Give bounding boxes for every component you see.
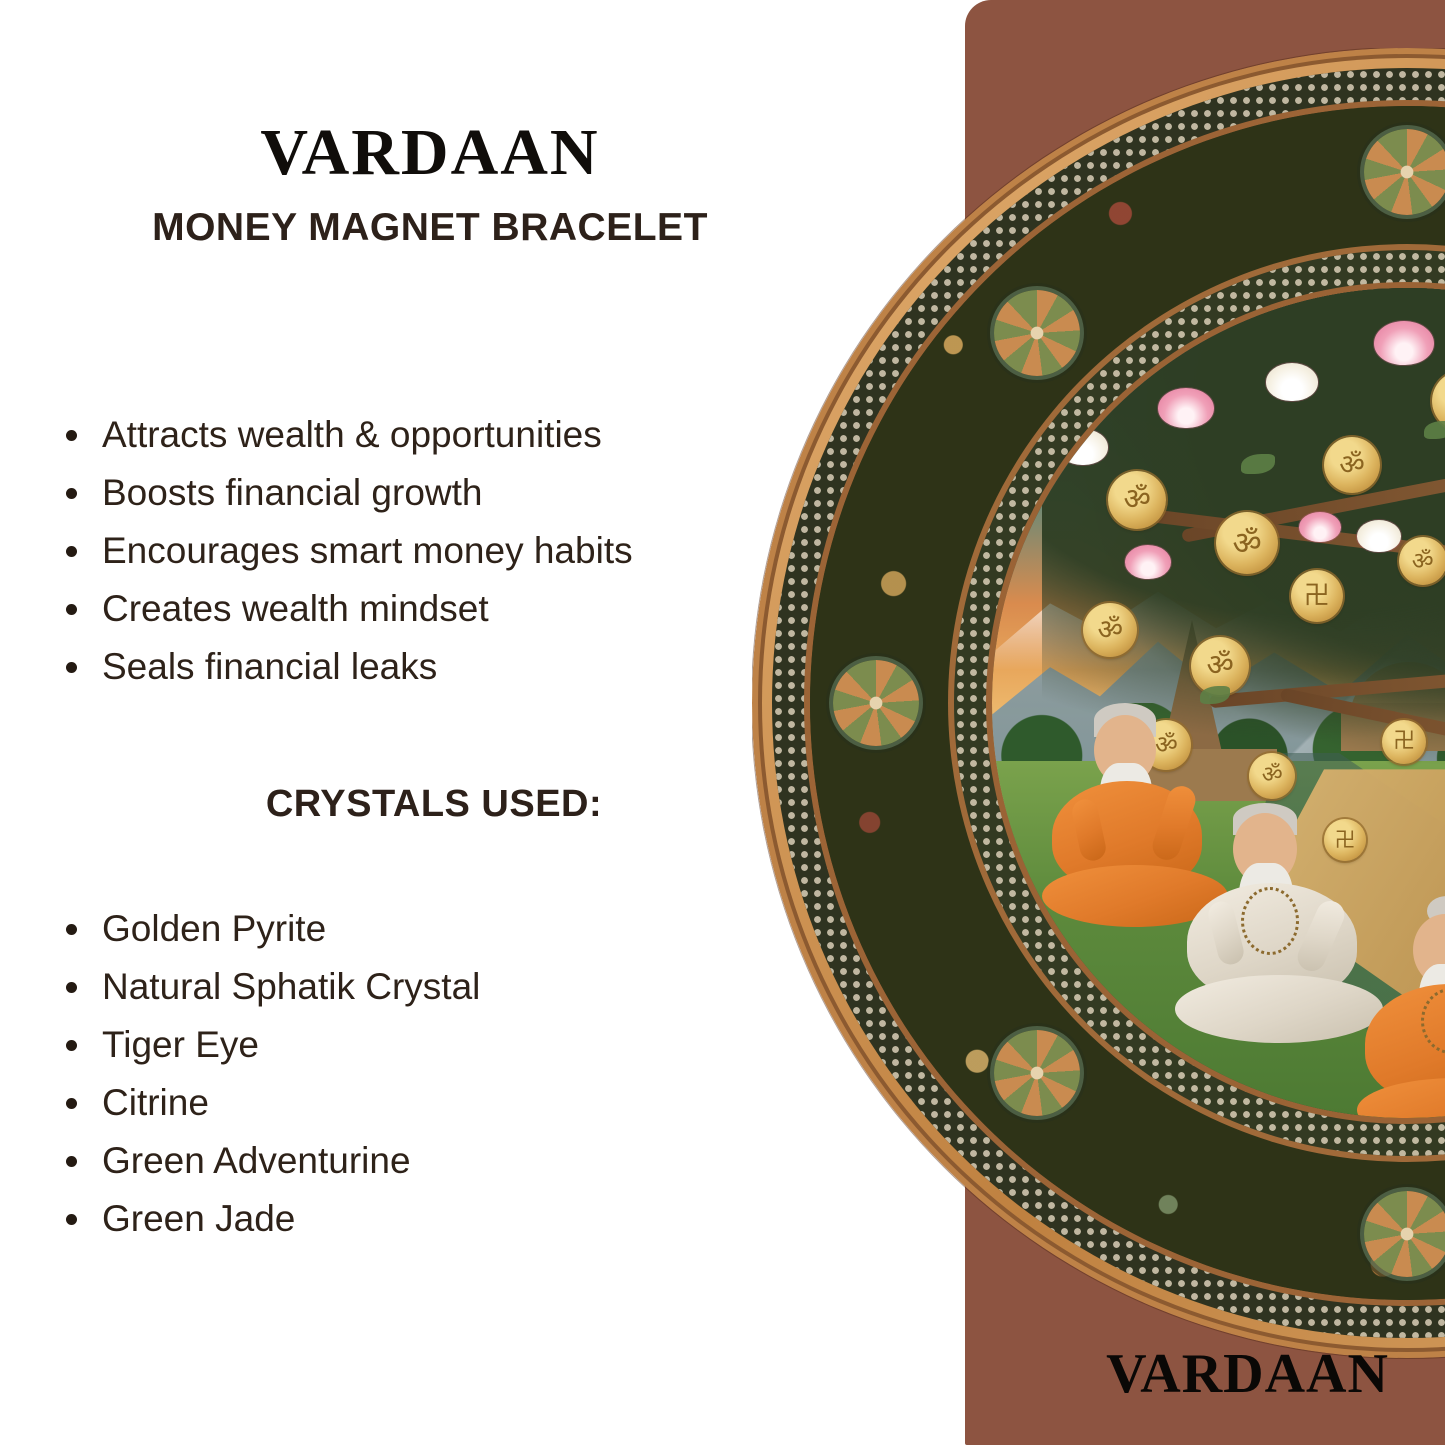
crystal-label: Citrine bbox=[102, 1082, 209, 1123]
coin-icon: ॐ bbox=[1249, 753, 1295, 799]
lotus-flower bbox=[1299, 512, 1341, 542]
list-item: Citrine bbox=[60, 1074, 760, 1132]
bullet-icon bbox=[66, 488, 77, 499]
bullet-icon bbox=[66, 924, 77, 935]
bullet-icon bbox=[66, 1156, 77, 1167]
rosette-icon bbox=[1364, 129, 1445, 215]
bullet-icon bbox=[66, 1098, 77, 1109]
crystal-label: Green Adventurine bbox=[102, 1140, 411, 1181]
list-item: Attracts wealth & opportunities bbox=[60, 406, 820, 464]
list-item: Natural Sphatik Crystal bbox=[60, 958, 760, 1016]
list-item: Tiger Eye bbox=[60, 1016, 760, 1074]
poster-canvas: ॐ ॐ ॐ 卍 ॐ 卍 ॐ ॐ 卍 ॐ ॐ 卍 ॐ ॐ 卍 ॐ ॐ bbox=[0, 0, 1445, 1445]
crystals-section: Golden Pyrite Natural Sphatik Crystal Ti… bbox=[60, 900, 760, 1248]
coin-icon: 卍 bbox=[1382, 720, 1426, 764]
crystals-list: Golden Pyrite Natural Sphatik Crystal Ti… bbox=[60, 900, 760, 1248]
text-column: VARDAAN MONEY MAGNET BRACELET Attracts w… bbox=[0, 0, 900, 1445]
benefit-label: Creates wealth mindset bbox=[102, 588, 489, 629]
bullet-icon bbox=[66, 1214, 77, 1225]
sage-figure-orange-lower bbox=[1357, 902, 1445, 1118]
benefits-section: Attracts wealth & opportunities Boosts f… bbox=[60, 406, 820, 696]
lotus-flower bbox=[1125, 545, 1171, 579]
list-item: Boosts financial growth bbox=[60, 464, 820, 522]
mandala-inner-scene: ॐ ॐ ॐ 卍 ॐ 卍 ॐ ॐ 卍 ॐ ॐ 卍 ॐ ॐ 卍 ॐ ॐ bbox=[992, 288, 1445, 1118]
benefit-label: Boosts financial growth bbox=[102, 472, 482, 513]
list-item: Creates wealth mindset bbox=[60, 580, 820, 638]
lotus-flower-white bbox=[1058, 429, 1108, 465]
bullet-icon bbox=[66, 982, 77, 993]
list-item: Encourages smart money habits bbox=[60, 522, 820, 580]
benefit-label: Seals financial leaks bbox=[102, 646, 437, 687]
benefit-label: Attracts wealth & opportunities bbox=[102, 414, 602, 455]
crystal-label: Tiger Eye bbox=[102, 1024, 259, 1065]
bullet-icon bbox=[66, 546, 77, 557]
list-item: Green Jade bbox=[60, 1190, 760, 1248]
lotus-flower bbox=[1374, 321, 1434, 365]
rosette-icon bbox=[1364, 1191, 1445, 1277]
bullet-icon bbox=[66, 604, 77, 615]
lotus-flower-white bbox=[1266, 363, 1318, 401]
lotus-flower bbox=[1158, 388, 1214, 428]
list-item: Green Adventurine bbox=[60, 1132, 760, 1190]
list-item: Seals financial leaks bbox=[60, 638, 820, 696]
lotus-flower-white bbox=[1357, 520, 1401, 552]
coin-icon: ॐ bbox=[1324, 437, 1380, 493]
bullet-icon bbox=[66, 1040, 77, 1051]
coin-icon: ॐ bbox=[1216, 512, 1278, 574]
footer-brand-logo: VARDAAN bbox=[1050, 1346, 1445, 1402]
brand-title: VARDAAN bbox=[0, 120, 860, 186]
coin-icon: ॐ bbox=[1399, 537, 1445, 585]
bullet-icon bbox=[66, 430, 77, 441]
coin-icon: 卍 bbox=[1291, 570, 1343, 622]
crystal-label: Natural Sphatik Crystal bbox=[102, 966, 480, 1007]
benefit-label: Encourages smart money habits bbox=[102, 530, 633, 571]
benefits-list: Attracts wealth & opportunities Boosts f… bbox=[60, 406, 820, 696]
sage-lap bbox=[1175, 975, 1383, 1043]
product-name: MONEY MAGNET BRACELET bbox=[0, 205, 860, 252]
crystal-label: Green Jade bbox=[102, 1198, 295, 1239]
list-item: Golden Pyrite bbox=[60, 900, 760, 958]
bullet-icon bbox=[66, 662, 77, 673]
sage-lap bbox=[1357, 1078, 1445, 1118]
mala-beads bbox=[1241, 887, 1299, 955]
crystals-heading: CRYSTALS USED: bbox=[0, 783, 868, 826]
coin-icon: ॐ bbox=[1108, 471, 1166, 529]
crystal-label: Golden Pyrite bbox=[102, 908, 326, 949]
